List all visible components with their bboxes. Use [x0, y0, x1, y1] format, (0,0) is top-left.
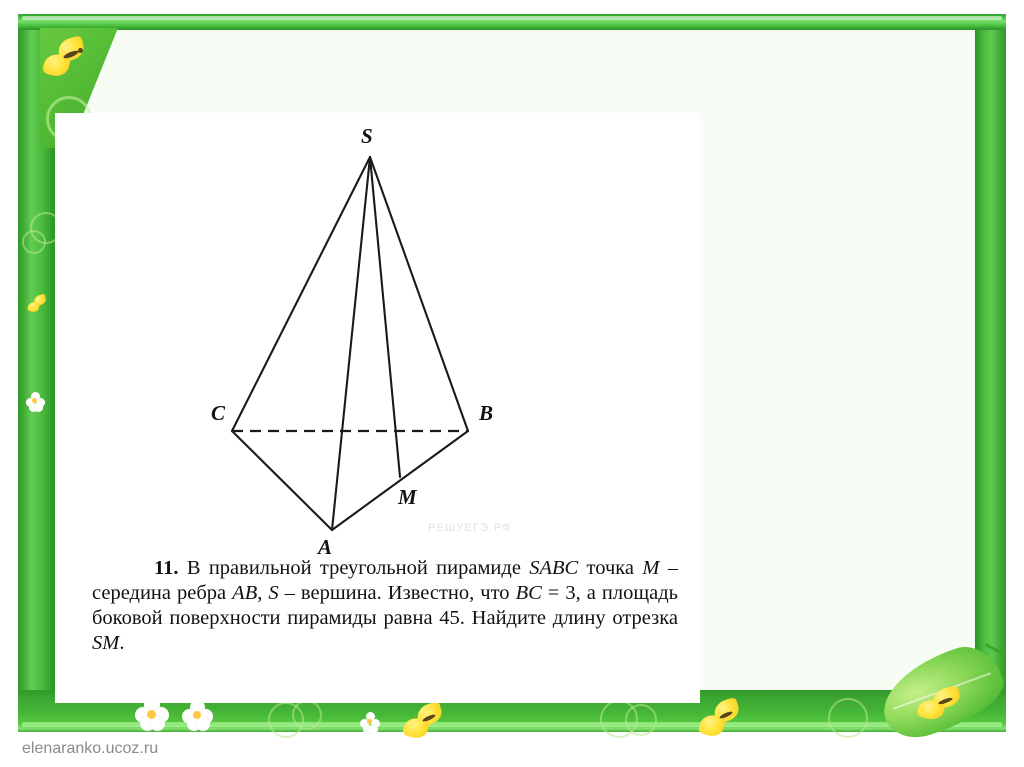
circle-decoration-icon	[625, 704, 657, 736]
geometry-figure	[55, 113, 700, 553]
problem-var-sabc: SABC	[529, 557, 578, 579]
circle-decoration-icon	[22, 230, 46, 254]
pyramid-diagram	[55, 113, 700, 553]
circle-decoration-icon	[292, 700, 322, 730]
problem-var-s: S	[268, 582, 278, 604]
border-top-highlight	[22, 16, 1002, 20]
problem-var-ab: AB	[232, 582, 257, 604]
slide-root: S C B M A РЕШУЕГЭ.РФ 11. В правильной тр…	[0, 0, 1024, 767]
vertex-label-A: A	[318, 537, 332, 558]
site-attribution: elenaranko.ucoz.ru	[22, 740, 158, 758]
edge-SM	[370, 157, 400, 477]
circle-decoration-icon	[828, 698, 868, 738]
vertex-label-M: M	[398, 487, 417, 508]
vertex-label-S: S	[361, 126, 373, 147]
edge-AB	[332, 431, 468, 530]
problem-text-1: В правильной треугольной пирамиде	[187, 557, 529, 579]
problem-number: 11.	[154, 557, 179, 579]
problem-statement: 11. В правильной треугольной пирамиде SA…	[92, 556, 678, 656]
butterfly-icon	[28, 295, 48, 313]
flower-icon	[26, 392, 46, 412]
problem-text-2: точка	[578, 557, 642, 579]
butterfly-icon	[404, 704, 448, 740]
vertex-label-B: B	[479, 403, 493, 424]
edge-SA	[332, 157, 370, 530]
butterfly-icon	[44, 38, 90, 80]
edge-SB	[370, 157, 468, 431]
problem-text-7: .	[119, 632, 124, 654]
border-right	[975, 14, 1006, 732]
flower-icon	[360, 712, 382, 734]
vertex-label-C: C	[211, 403, 225, 424]
butterfly-icon	[700, 700, 744, 738]
butterfly-icon	[918, 688, 964, 722]
problem-text-5: – вершина. Известно, что	[279, 582, 516, 604]
problem-var-m: M	[642, 557, 659, 579]
problem-text-4: ,	[257, 582, 268, 604]
edge-CA	[232, 431, 332, 530]
flower-icon	[182, 700, 212, 730]
problem-var-sm: SM	[92, 632, 119, 654]
watermark: РЕШУЕГЭ.РФ	[428, 522, 512, 534]
problem-var-bc: BC	[516, 582, 542, 604]
edge-SC	[232, 157, 370, 431]
